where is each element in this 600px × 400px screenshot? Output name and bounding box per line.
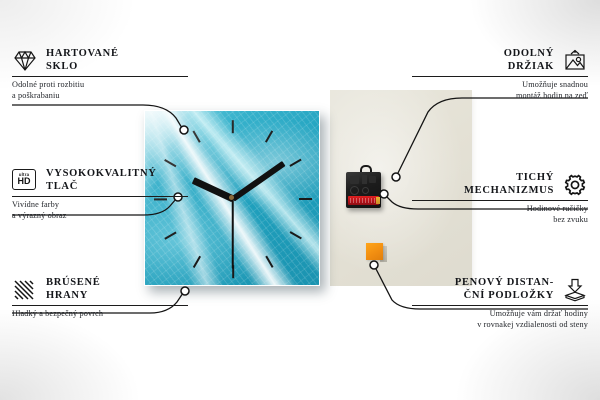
feature-title: BRÚSENÉ HRANY <box>46 277 188 302</box>
feature-polished-edges: BRÚSENÉ HRANY Hladký a bezpečný povrch <box>12 277 188 320</box>
feature-description: Odolné proti rozbitiu a poškrabaniu <box>12 77 188 101</box>
infographic-canvas: HARTOVANÉ SKLO Odolné proti rozbitiu a p… <box>0 0 600 400</box>
mechanism-knob <box>350 176 359 184</box>
battery-label <box>350 198 376 203</box>
feature-header: HARTOVANÉ SKLO <box>12 48 188 76</box>
mechanism-dial <box>350 186 359 195</box>
feature-title: ODOLNÝ DRŽIAK <box>412 48 554 73</box>
feature-silent-mechanism: TICHÝ MECHANIZMUS Hodinové ručičky bez z… <box>412 172 588 225</box>
feature-description: Umožňuje snadnou montáž hodin na zeď <box>412 77 588 101</box>
feature-header: BRÚSENÉ HRANY <box>12 277 188 305</box>
feature-title: TICHÝ MECHANIZMUS <box>412 172 554 197</box>
feature-foam-spacers: PENOVÝ DISTAN- ČNÍ PODLOŽKY Umožňuje vám… <box>412 277 588 330</box>
ultra-hd-icon: ultra HD <box>12 169 38 193</box>
feature-title: PENOVÝ DISTAN- ČNÍ PODLOŽKY <box>412 277 554 302</box>
diamond-icon <box>12 49 38 73</box>
hatch-lines-icon <box>12 278 38 302</box>
feature-header: ODOLNÝ DRŽIAK <box>412 48 588 76</box>
gear-icon <box>562 173 588 197</box>
mechanism-knob <box>362 175 367 184</box>
clock-tick <box>299 198 312 200</box>
mechanism-knob <box>369 176 376 183</box>
foam-spacer-pad <box>366 243 383 260</box>
feature-description: Hodinové ručičky bez zvuku <box>412 201 588 225</box>
feature-header: TICHÝ MECHANIZMUS <box>412 172 588 200</box>
clock-second-hand <box>232 199 234 269</box>
framed-picture-icon <box>562 49 588 73</box>
feature-high-quality-print: ultra HD VYSOKOKVALITNÝ TLAČ Vivídne far… <box>12 168 188 221</box>
feature-description: Umožňuje vám držať hodiny v rovnakej vzd… <box>412 306 588 330</box>
feature-description: Hladký a bezpečný povrch <box>12 306 188 320</box>
feature-title: HARTOVANÉ SKLO <box>46 48 188 73</box>
feature-durable-hanger: ODOLNÝ DRŽIAK Umožňuje snadnou montáž ho… <box>412 48 588 101</box>
mechanism-dial <box>362 187 369 194</box>
feature-header: ultra HD VYSOKOKVALITNÝ TLAČ <box>12 168 188 196</box>
clock-center-pin <box>229 195 234 200</box>
battery-terminal <box>376 197 380 204</box>
feature-title: VYSOKOKVALITNÝ TLAČ <box>46 168 188 193</box>
feature-description: Vivídne farby a výrazný obraz <box>12 197 188 221</box>
clock-tick <box>232 120 234 133</box>
press-down-icon <box>562 278 588 302</box>
ultra-hd-icon-main: HD <box>18 177 31 187</box>
feature-header: PENOVÝ DISTAN- ČNÍ PODLOŽKY <box>412 277 588 305</box>
feature-tempered-glass: HARTOVANÉ SKLO Odolné proti rozbitiu a p… <box>12 48 188 101</box>
